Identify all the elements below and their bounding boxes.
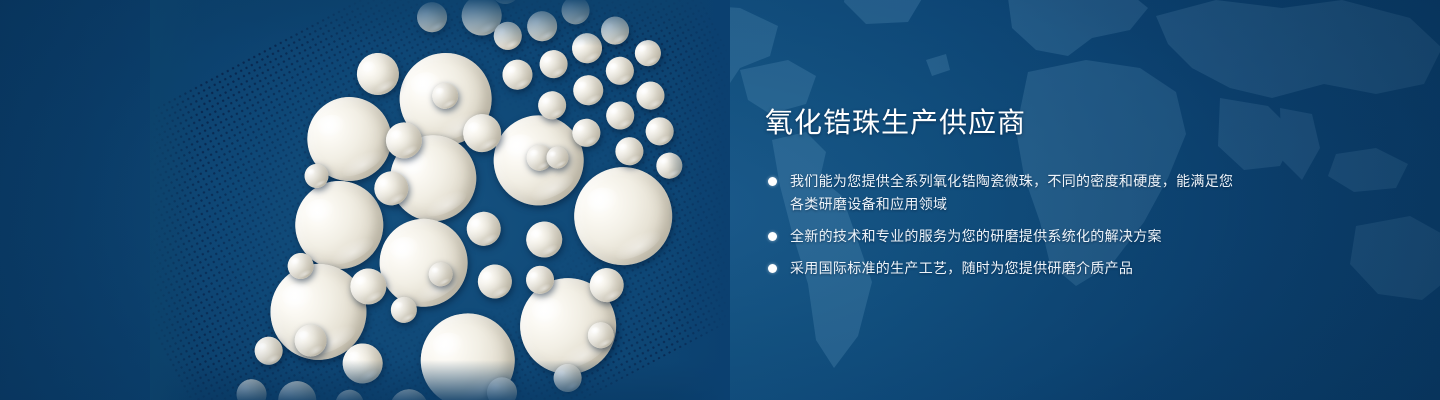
list-item: 我们能为您提供全系列氧化锆陶瓷微珠，不同的密度和硬度，能满足您各类研磨设备和应用… [765, 170, 1235, 216]
feature-text: 全新的技术和专业的服务为您的研磨提供系统化的解决方案 [790, 228, 1162, 244]
feature-text: 采用国际标准的生产工艺，随时为您提供研磨介质产品 [790, 260, 1133, 276]
banner-headline: 氧化锆珠生产供应商 [765, 104, 1235, 142]
list-item: 采用国际标准的生产工艺，随时为您提供研磨介质产品 [765, 257, 1235, 280]
bullet-dot-icon [768, 264, 777, 273]
banner-copy: 氧化锆珠生产供应商 我们能为您提供全系列氧化锆陶瓷微珠，不同的密度和硬度，能满足… [765, 104, 1235, 280]
hero-banner: 氧化锆珠生产供应商 我们能为您提供全系列氧化锆陶瓷微珠，不同的密度和硬度，能满足… [0, 0, 1440, 400]
list-item: 全新的技术和专业的服务为您的研磨提供系统化的解决方案 [765, 225, 1235, 248]
bullet-dot-icon [768, 177, 777, 186]
feature-text: 我们能为您提供全系列氧化锆陶瓷微珠，不同的密度和硬度，能满足您各类研磨设备和应用… [790, 173, 1233, 212]
bullet-dot-icon [768, 232, 777, 241]
feature-list: 我们能为您提供全系列氧化锆陶瓷微珠，不同的密度和硬度，能满足您各类研磨设备和应用… [765, 170, 1235, 280]
